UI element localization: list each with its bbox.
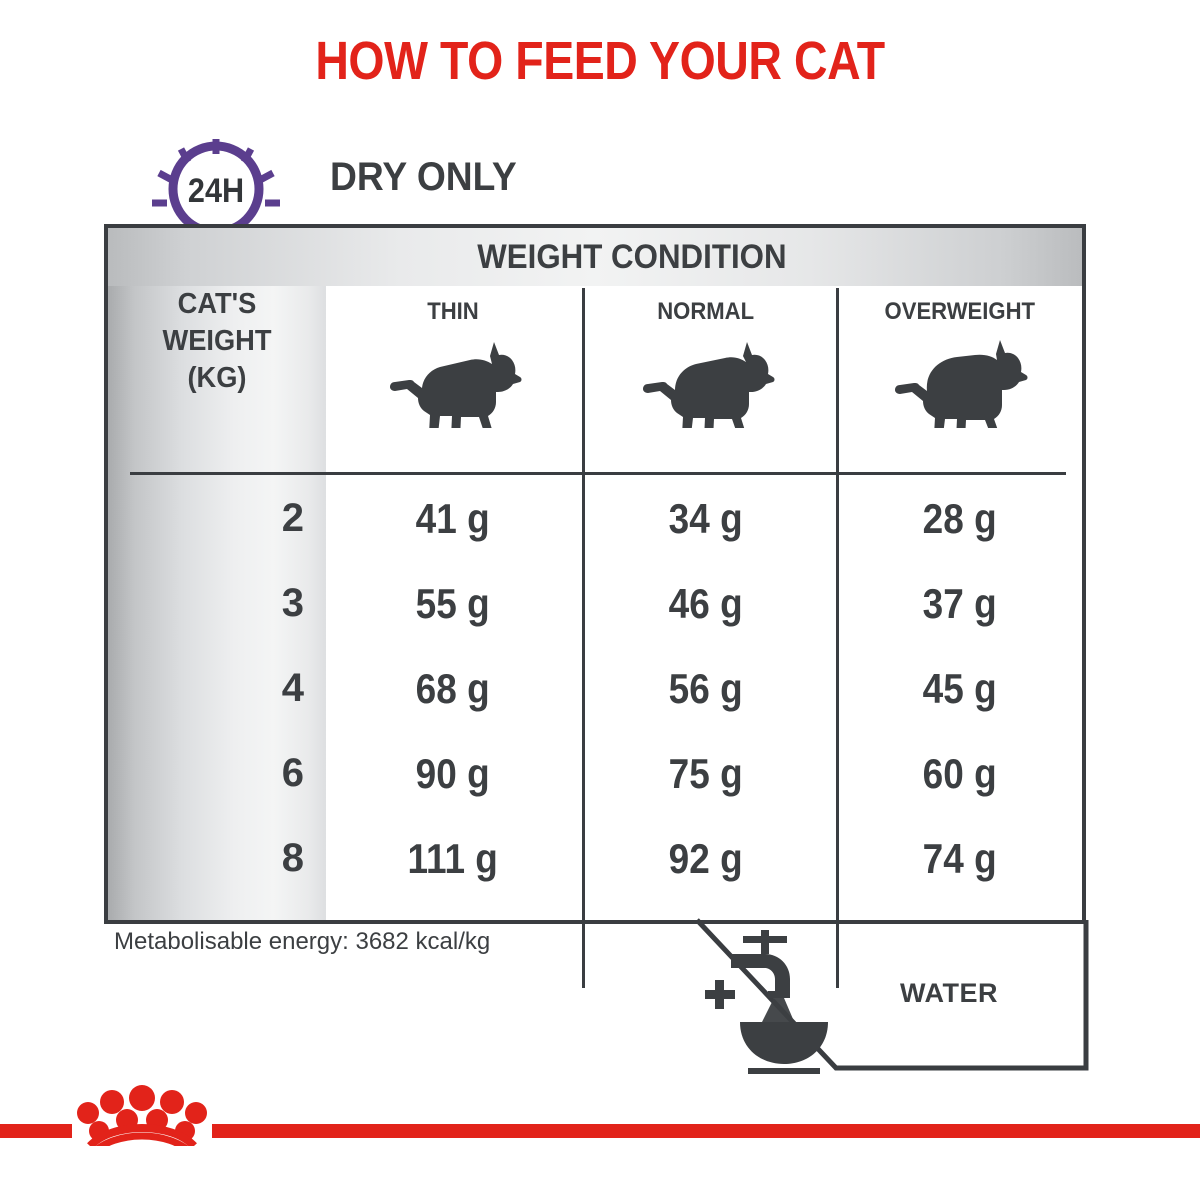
table-row: 8 111 g 92 g 74 g xyxy=(108,816,1086,901)
row-value-normal: 34 g xyxy=(595,495,818,543)
clock-24h-icon: 24H xyxy=(142,137,290,233)
cats-weight-line-2: WEIGHT xyxy=(115,323,320,360)
table-row: 3 55 g 46 g 37 g xyxy=(108,561,1086,646)
page-title: HOW TO FEED YOUR CAT xyxy=(84,30,1116,92)
row-value-overweight: 37 g xyxy=(848,580,1071,628)
table-row: 4 68 g 56 g 45 g xyxy=(108,646,1086,731)
cats-weight-header: CAT'S WEIGHT (KG) xyxy=(115,286,320,397)
royal-canin-crown-logo xyxy=(72,1084,212,1146)
plus-sign xyxy=(705,980,735,1009)
clock-24h-label: 24H xyxy=(149,172,282,211)
row-weight: 8 xyxy=(108,836,326,881)
condition-label-overweight: OVERWEIGHT xyxy=(884,298,1034,326)
row-weight: 4 xyxy=(108,666,326,711)
cats-weight-line-3: (KG) xyxy=(115,360,320,397)
row-weight: 2 xyxy=(108,496,326,541)
water-panel: WATER xyxy=(600,916,1100,1081)
row-value-thin: 68 g xyxy=(341,665,564,713)
row-value-thin: 55 g xyxy=(341,580,564,628)
row-value-normal: 75 g xyxy=(595,750,818,798)
condition-label-normal: NORMAL xyxy=(658,298,755,326)
row-value-normal: 46 g xyxy=(595,580,818,628)
row-value-thin: 90 g xyxy=(341,750,564,798)
row-weight: 6 xyxy=(108,751,326,796)
condition-column-overweight: OVERWEIGHT xyxy=(833,286,1086,476)
row-value-overweight: 60 g xyxy=(848,750,1071,798)
brand-footer xyxy=(0,1124,1200,1138)
row-value-thin: 111 g xyxy=(341,835,564,883)
feeding-table-body: 2 41 g 34 g 28 g 3 55 g 46 g 37 g 4 68 g… xyxy=(108,476,1086,901)
row-value-overweight: 45 g xyxy=(848,665,1071,713)
condition-label-thin: THIN xyxy=(427,298,479,326)
row-value-normal: 56 g xyxy=(595,665,818,713)
brand-rule-left xyxy=(0,1124,72,1138)
brand-rule-right xyxy=(212,1124,1200,1138)
header-separator xyxy=(130,472,1066,475)
feeding-table: WEIGHT CONDITION CAT'S WEIGHT (KG) THIN … xyxy=(104,224,1086,924)
row-value-thin: 41 g xyxy=(341,495,564,543)
row-value-overweight: 28 g xyxy=(848,495,1071,543)
cat-normal-icon xyxy=(631,340,781,428)
feeding-mode-label: DRY ONLY xyxy=(330,155,517,200)
condition-column-thin: THIN xyxy=(326,286,579,476)
water-label: WATER xyxy=(900,978,998,1009)
row-weight: 3 xyxy=(108,581,326,626)
row-value-overweight: 74 g xyxy=(848,835,1071,883)
weight-condition-header: WEIGHT CONDITION xyxy=(108,228,1082,286)
condition-column-normal: NORMAL xyxy=(579,286,832,476)
table-row: 6 90 g 75 g 60 g xyxy=(108,731,1086,816)
cats-weight-line-1: CAT'S xyxy=(115,286,320,323)
table-row: 2 41 g 34 g 28 g xyxy=(108,476,1086,561)
condition-subheader-row: THIN NORMAL OVERWEIGHT xyxy=(326,286,1086,476)
metabolisable-energy-note: Metabolisable energy: 3682 kcal/kg xyxy=(114,928,490,956)
cat-thin-icon xyxy=(378,340,528,428)
row-value-normal: 92 g xyxy=(595,835,818,883)
weight-condition-label: WEIGHT CONDITION xyxy=(404,238,787,277)
cat-overweight-icon xyxy=(884,340,1034,428)
